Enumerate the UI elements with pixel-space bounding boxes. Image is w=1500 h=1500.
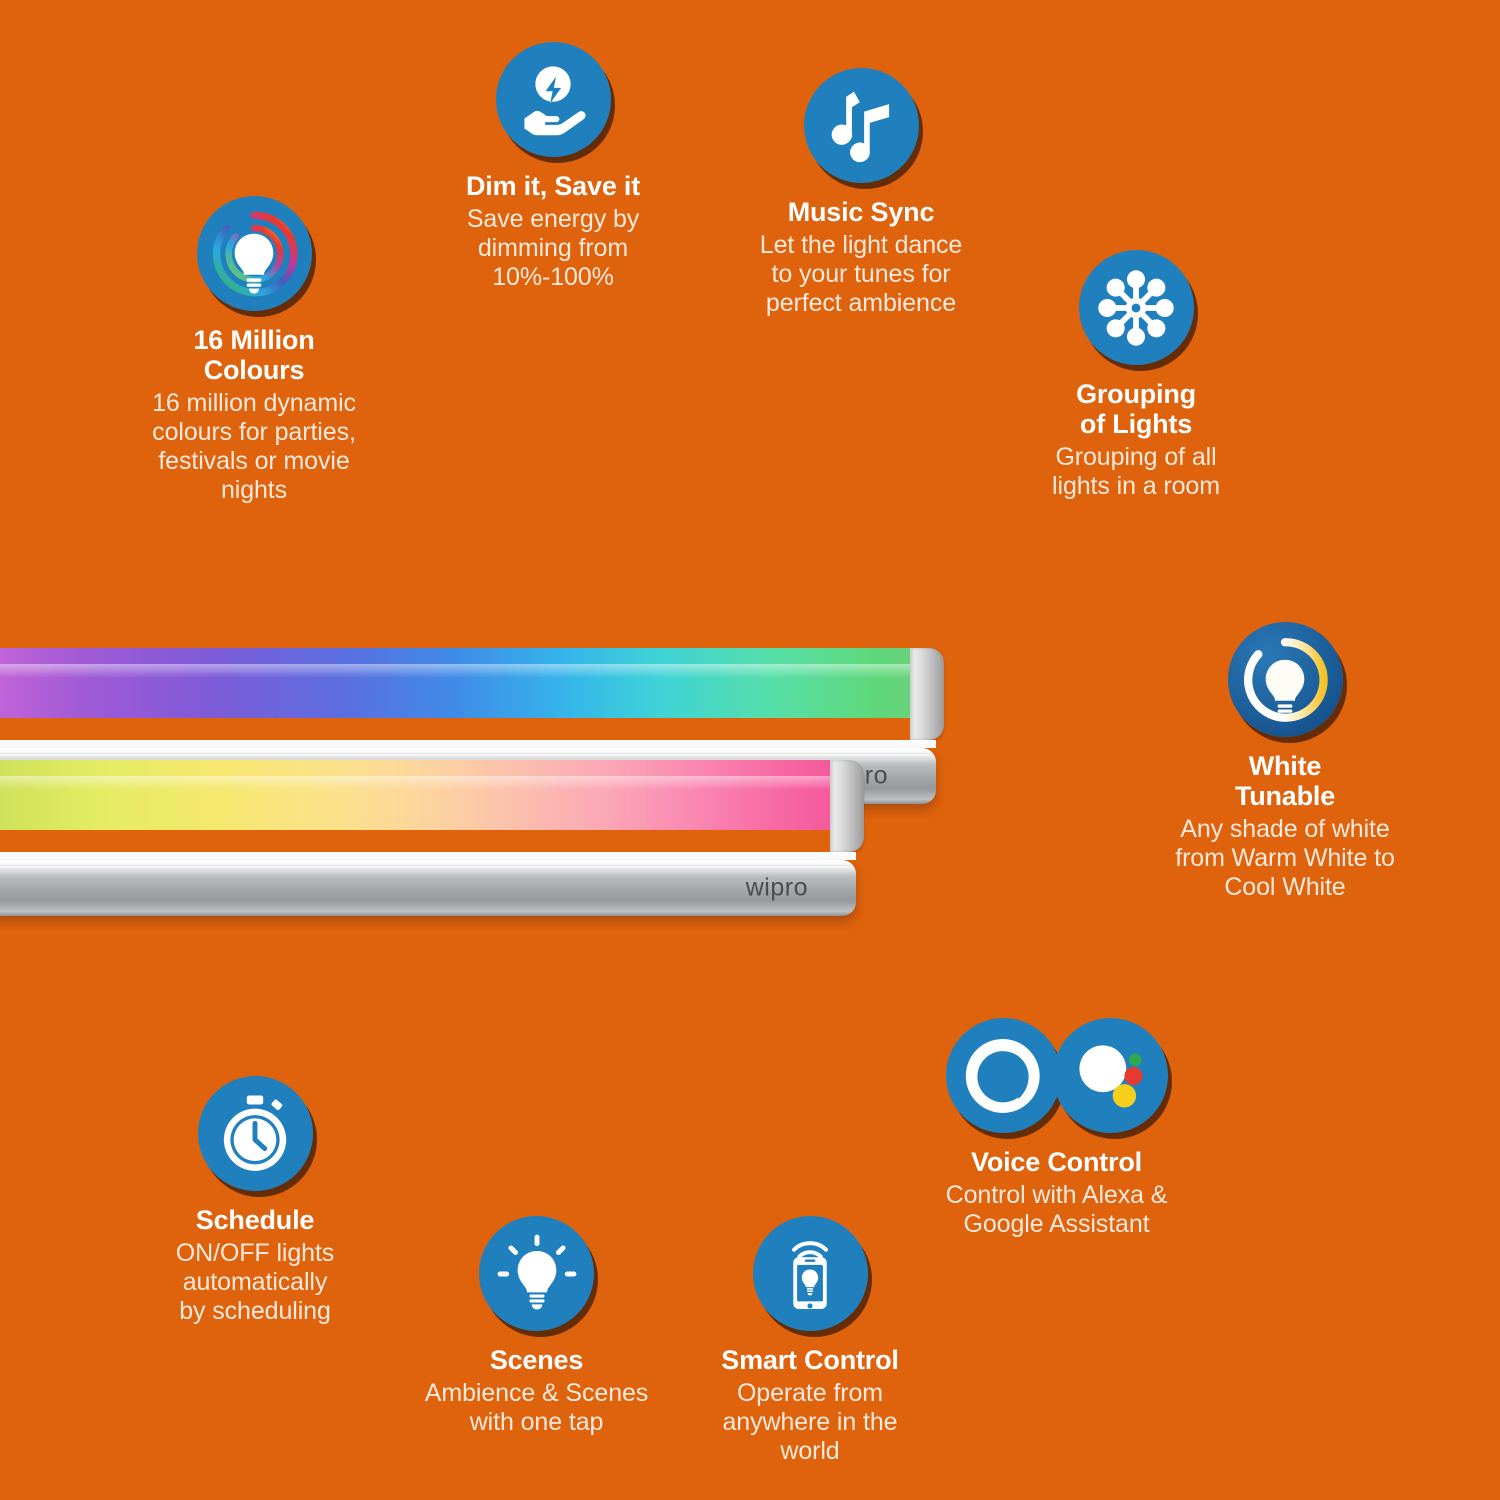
tube-top-end-cap bbox=[910, 648, 944, 740]
hand-energy-saving-icon bbox=[496, 42, 611, 157]
feature-title: Grouping of Lights bbox=[1076, 379, 1196, 439]
feature-title: 16 Million Colours bbox=[193, 325, 314, 385]
shining-bulb-icon bbox=[479, 1216, 594, 1331]
feature-title: Scenes bbox=[490, 1345, 583, 1375]
feature-smart-control: Smart Control Operate from anywhere in t… bbox=[692, 1216, 928, 1466]
tube-bottom-rgb-glow bbox=[0, 760, 842, 830]
white-tunable-bulb-icon bbox=[1228, 622, 1343, 737]
feature-icon-wrap bbox=[1079, 250, 1194, 365]
feature-description: Any shade of white from Warm White to Co… bbox=[1175, 815, 1395, 902]
feature-description: 16 million dynamic colours for parties, … bbox=[152, 389, 356, 505]
tube-bottom-body bbox=[0, 760, 864, 852]
feature-title: Voice Control bbox=[971, 1147, 1142, 1177]
tube-bottom-base-sheen bbox=[0, 866, 856, 876]
feature-description: Save energy by dimming from 10%-100% bbox=[467, 205, 639, 292]
feature-title: Smart Control bbox=[721, 1345, 898, 1375]
feature-icon-wrap bbox=[753, 1216, 868, 1331]
feature-icon-wrap bbox=[804, 68, 919, 183]
feature-scenes: Scenes Ambience & Scenes with one tap bbox=[414, 1216, 659, 1437]
stopwatch-icon bbox=[198, 1076, 313, 1191]
feature-grouping-of-lights: Grouping of Lights Grouping of all light… bbox=[1010, 250, 1262, 501]
feature-description: Operate from anywhere in the world bbox=[722, 1379, 897, 1466]
music-notes-icon bbox=[804, 68, 919, 183]
alexa-ring-icon bbox=[946, 1018, 1061, 1133]
tube-top-seam bbox=[0, 740, 936, 748]
infographic-canvas: wipro wipro bbox=[0, 0, 1500, 1500]
feature-description: Control with Alexa & Google Assistant bbox=[946, 1181, 1168, 1239]
feature-title: Dim it, Save it bbox=[466, 171, 640, 201]
feature-dim-it-save-it: Dim it, Save it Save energy by dimming f… bbox=[424, 42, 682, 292]
tube-bottom-end-cap bbox=[830, 760, 864, 852]
feature-icon-wrap bbox=[1228, 622, 1343, 737]
wipro-brand-logo-bottom: wipro bbox=[746, 874, 808, 903]
tube-light-top: wipro bbox=[0, 648, 944, 740]
tube-bottom-base: wipro bbox=[0, 860, 856, 916]
feature-description: Ambience & Scenes with one tap bbox=[425, 1379, 648, 1437]
feature-icon-wrap bbox=[198, 1076, 313, 1191]
feature-16-million-colours: 16 Million Colours 16 million dynamic co… bbox=[108, 196, 400, 505]
feature-icon-wrap bbox=[496, 42, 611, 157]
tube-bottom-seam bbox=[0, 852, 856, 860]
google-assistant-icon bbox=[1053, 1018, 1168, 1133]
feature-schedule: Schedule ON/OFF lights automatically by … bbox=[130, 1076, 380, 1326]
feature-title: Schedule bbox=[196, 1205, 314, 1235]
tube-top-body bbox=[0, 648, 944, 740]
feature-description: ON/OFF lights automatically by schedulin… bbox=[176, 1239, 334, 1326]
feature-title: White Tunable bbox=[1235, 751, 1335, 811]
tube-top-rgb-glow bbox=[0, 648, 922, 718]
group-network-icon bbox=[1079, 250, 1194, 365]
feature-icon-wrap bbox=[197, 196, 312, 311]
feature-icon-wrap bbox=[479, 1216, 594, 1331]
tube-top-base-sheen bbox=[0, 754, 936, 764]
feature-description: Let the light dance to your tunes for pe… bbox=[760, 231, 962, 318]
feature-title: Music Sync bbox=[788, 197, 935, 227]
rainbow-bulb-icon bbox=[197, 196, 312, 311]
feature-white-tunable: White Tunable Any shade of white from Wa… bbox=[1158, 622, 1412, 902]
feature-description: Grouping of all lights in a room bbox=[1052, 443, 1220, 501]
tube-light-bottom: wipro bbox=[0, 760, 864, 852]
feature-icon-wrap bbox=[946, 1018, 1168, 1133]
smartphone-wifi-icon bbox=[753, 1216, 868, 1331]
wipro-brand-logo-top: wipro bbox=[826, 762, 888, 791]
feature-music-sync: Music Sync Let the light dance to your t… bbox=[733, 68, 989, 318]
feature-voice-control: Voice Control Control with Alexa & Googl… bbox=[930, 1018, 1183, 1239]
tube-top-base: wipro bbox=[0, 748, 936, 804]
